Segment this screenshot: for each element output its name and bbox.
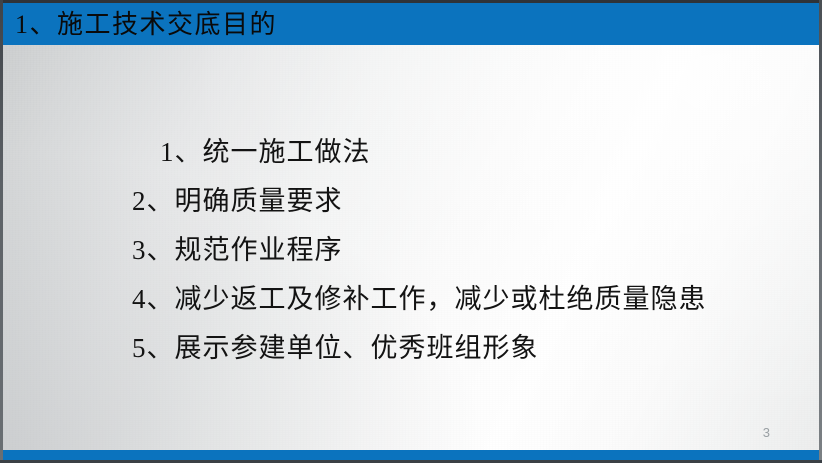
slide-page-number: 3 (763, 425, 770, 440)
list-item: 5、展示参建单位、优秀班组形象 (0, 324, 822, 373)
list-item: 2、明确质量要求 (0, 177, 822, 226)
slide-body-list: 1、统一施工做法 2、明确质量要求 3、规范作业程序 4、减少返工及修补工作，减… (0, 128, 822, 373)
slide-bottom-accent-bar (3, 450, 819, 460)
slide-title-banner: 1、施工技术交底目的 (3, 3, 819, 45)
list-item: 4、减少返工及修补工作，减少或杜绝质量隐患 (0, 275, 822, 324)
list-item: 3、规范作业程序 (0, 226, 822, 275)
slide-title: 1、施工技术交底目的 (15, 9, 277, 41)
list-item: 1、统一施工做法 (0, 128, 822, 177)
presentation-slide: 1、施工技术交底目的 1、统一施工做法 2、明确质量要求 3、规范作业程序 4、… (0, 0, 822, 463)
